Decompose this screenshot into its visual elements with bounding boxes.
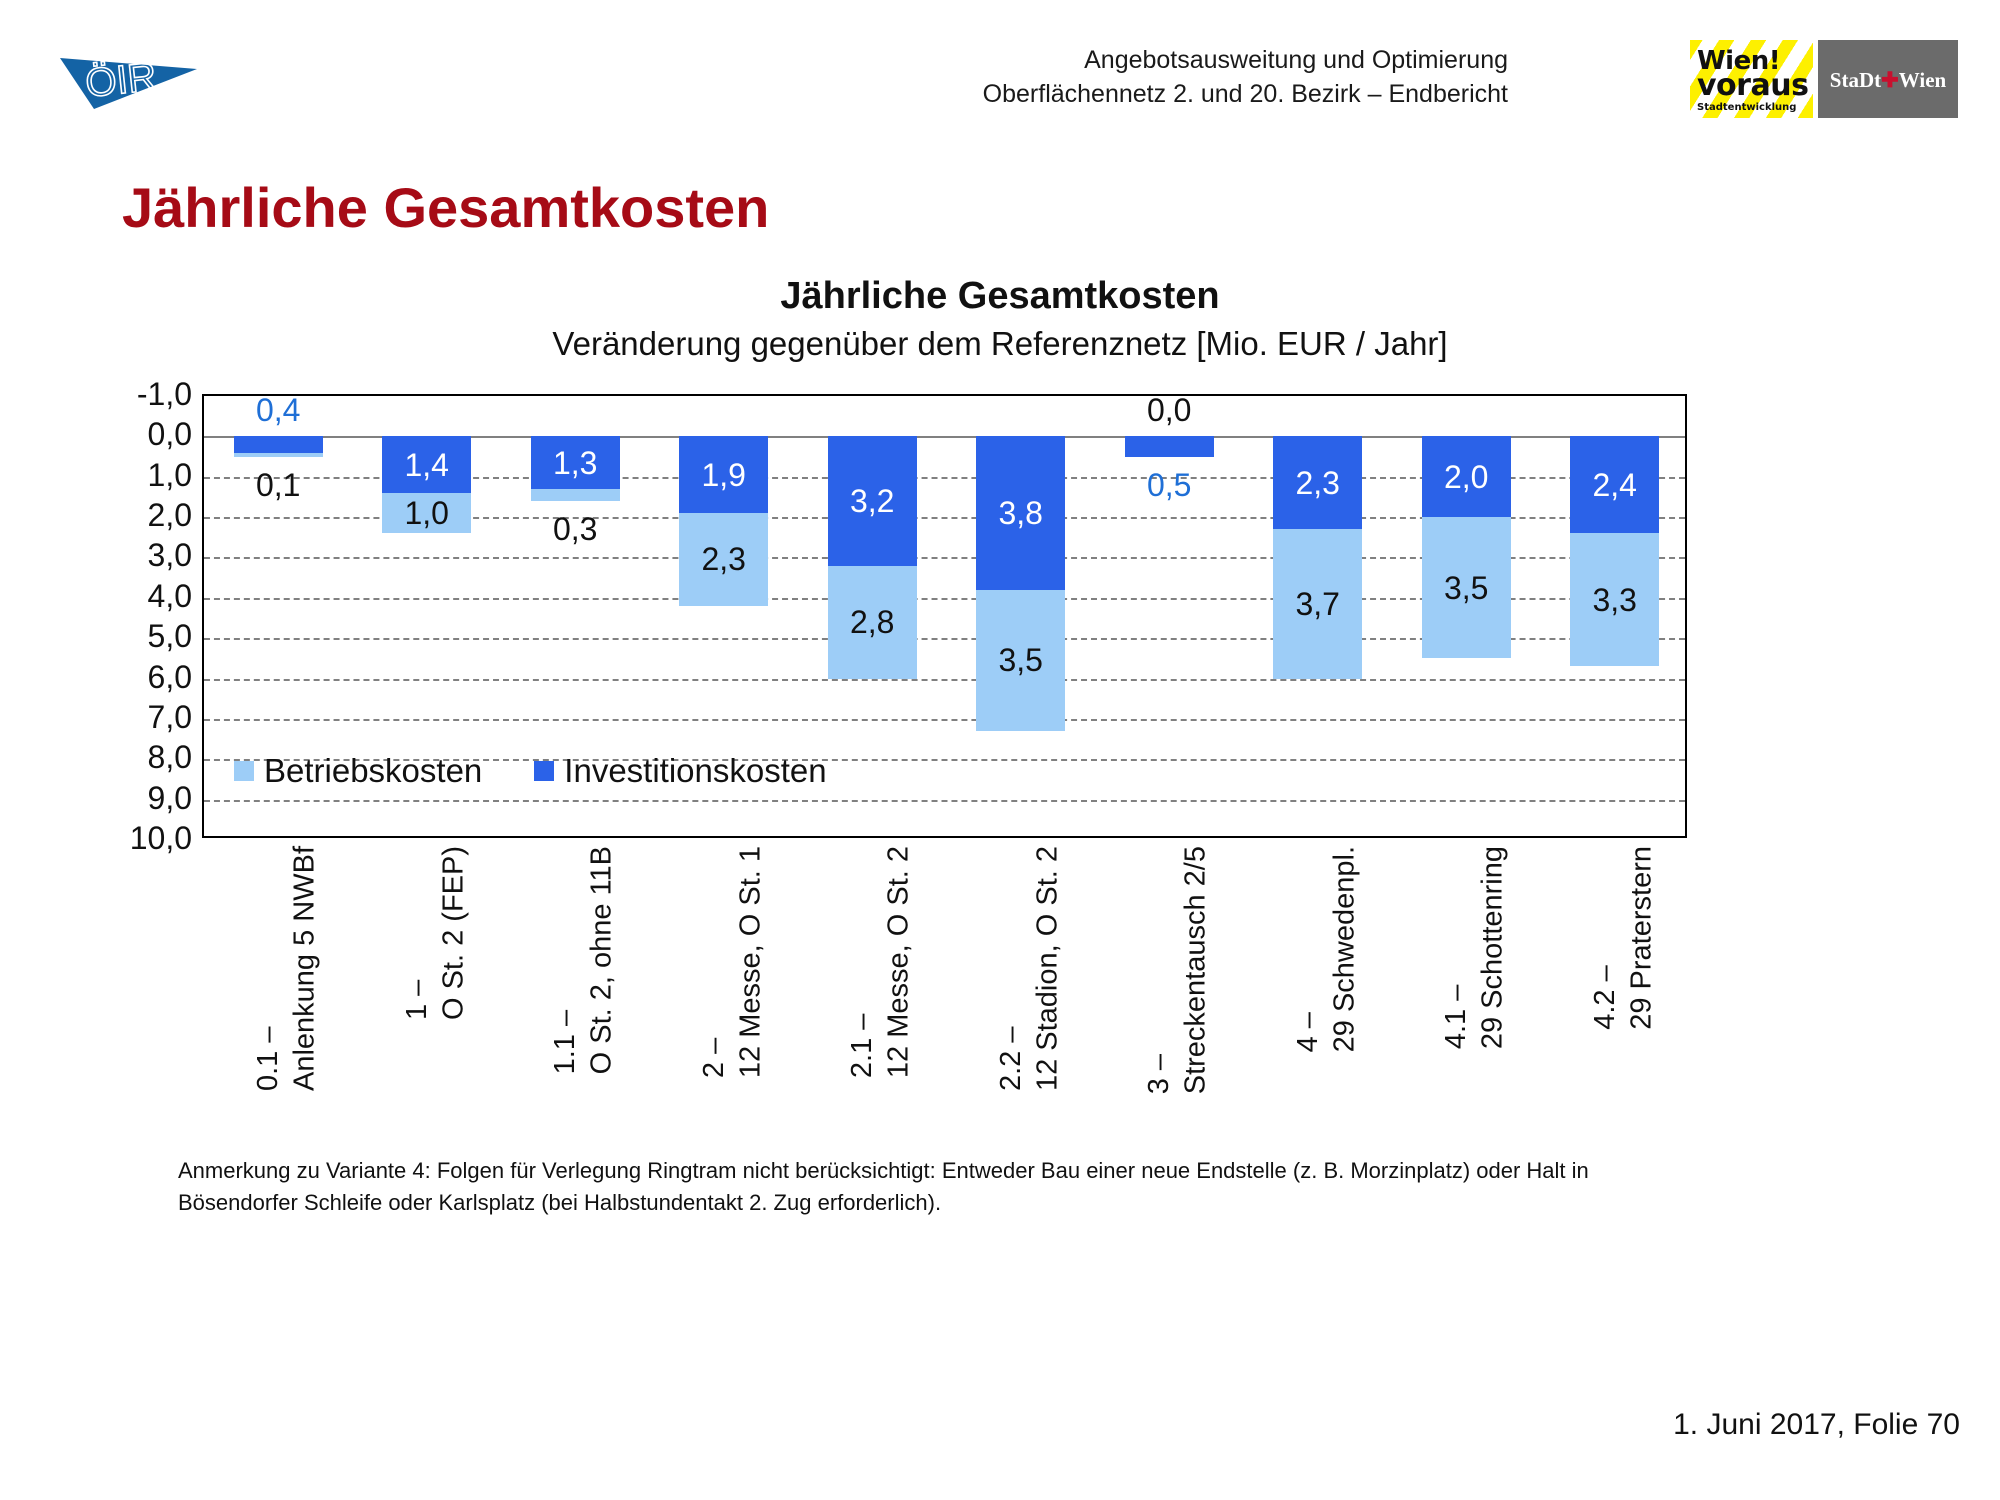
legend-swatch-icon [534,761,554,781]
stadt-wien-wordmark: StaDt✚Wien [1818,68,1958,93]
bar-segment-investitionskosten[interactable] [1125,436,1214,456]
stadt-wien-post: Wien [1899,68,1946,92]
bar-group[interactable]: 3,83,5 [976,396,1065,836]
stadt-wien-pre: StaDt [1830,68,1881,92]
legend-item[interactable]: Investitionskosten [534,752,826,790]
x-axis-category-label: 2.2 – 12 Stadion, O St. 2 [993,846,1066,1091]
x-axis-category-label: 1.1 – O St. 2, ohne 11B [547,846,620,1074]
legend-label: Betriebskosten [264,752,482,790]
bar-label-investitionskosten: 2,3 [1273,467,1362,499]
bar-label-betriebskosten: 2,3 [679,543,768,575]
legend-label: Investitionskosten [564,752,826,790]
bar-label-investitionskosten: 1,9 [679,459,768,491]
bar-label-betriebskosten: 2,8 [828,606,917,638]
y-axis-tick: 0,0 [80,418,192,450]
bar-label-investitionskosten: 3,2 [828,485,917,517]
bar-label-investitionskosten: 2,0 [1422,461,1511,493]
x-axis-category-label: 4.1 – 29 Schottenring [1438,846,1511,1049]
bar-label-betriebskosten: 3,5 [1422,572,1511,604]
bar-label-betriebskosten: 1,0 [382,497,471,529]
bar-segment-betriebskosten[interactable] [531,489,620,501]
footnote: Anmerkung zu Variante 4: Folgen für Verl… [178,1155,1708,1219]
slide-header: ÖIR Angebotsausweitung und Optimierung O… [0,0,2000,140]
bar-segment-investitionskosten[interactable] [234,436,323,452]
y-axis-tick: 2,0 [80,499,192,531]
cross-icon: ✚ [1881,68,1899,92]
legend-swatch-icon [234,761,254,781]
chart-legend: BetriebskostenInvestitionskosten [234,752,879,790]
y-axis-tick: 7,0 [80,701,192,733]
x-axis-category-label: 4.2 – 29 Praterstern [1587,846,1660,1030]
bar-group[interactable]: 2,33,7 [1273,396,1362,836]
bar-group[interactable]: 0,50,0 [1125,396,1214,836]
header-line-2: Oberflächennetz 2. und 20. Bezirk – Endb… [983,78,1508,112]
stadt-wien-logo: StaDt✚Wien [1818,40,1958,118]
svg-text:ÖIR: ÖIR [83,55,158,106]
wien-voraus-logo: Wien! voraus Stadtentwicklung [1690,40,1813,118]
bar-label-investitionskosten: 0,5 [1125,469,1214,501]
y-axis-tick: 3,0 [80,539,192,571]
header-subtitle: Angebotsausweitung und Optimierung Oberf… [983,44,1508,112]
x-axis-category-label: 2 – 12 Messe, O St. 1 [696,846,769,1078]
y-axis-tick: 1,0 [80,459,192,491]
x-axis: 0.1 – Anlenkung 5 NWBf1 – O St. 2 (FEP)1… [202,846,1687,1136]
chart-title: Jährliche Gesamtkosten [0,275,2000,318]
x-axis-category-label: 0.1 – Anlenkung 5 NWBf [250,846,323,1091]
wien-voraus-line-2: voraus [1697,68,1808,103]
bar-label-investitionskosten: 2,4 [1570,469,1659,501]
y-axis: -1,00,01,02,03,04,05,06,07,08,09,010,0 [80,394,192,838]
bar-label-betriebskosten: 3,7 [1273,588,1362,620]
y-axis-tick: 9,0 [80,782,192,814]
slide-footer: 1. Juni 2017, Folie 70 [1673,1408,1960,1442]
bar-label-betriebskosten: 0,0 [1125,394,1214,426]
header-line-1: Angebotsausweitung und Optimierung [983,44,1508,78]
chart-subtitle: Veränderung gegenüber dem Referenznetz [… [0,325,2000,363]
bar-label-betriebskosten: 0,1 [234,469,323,501]
y-axis-tick: 8,0 [80,741,192,773]
wien-voraus-line-3: Stadtentwicklung [1697,102,1796,113]
legend-item[interactable]: Betriebskosten [234,752,482,790]
bar-label-investitionskosten: 3,8 [976,497,1065,529]
bar-group[interactable]: 2,43,3 [1570,396,1659,836]
bar-label-investitionskosten: 0,4 [234,394,323,426]
x-axis-category-label: 4 – 29 Schwedenpl. [1290,846,1363,1052]
chart-plot-area: 0,40,11,41,01,30,31,92,33,22,83,83,50,50… [202,394,1687,838]
x-axis-category-label: 2.1 – 12 Messe, O St. 2 [844,846,917,1078]
oir-logo: ÖIR [42,33,212,113]
bar-label-betriebskosten: 3,3 [1570,584,1659,616]
y-axis-tick: 10,0 [80,822,192,854]
y-axis-tick: 6,0 [80,661,192,693]
bar-group[interactable]: 2,03,5 [1422,396,1511,836]
bar-label-betriebskosten: 0,3 [531,513,620,545]
x-axis-category-label: 1 – O St. 2 (FEP) [399,846,472,1020]
bar-label-betriebskosten: 3,5 [976,644,1065,676]
y-axis-tick: 4,0 [80,580,192,612]
y-axis-tick: 5,0 [80,620,192,652]
bar-label-investitionskosten: 1,3 [531,447,620,479]
page-title: Jährliche Gesamtkosten [122,175,769,240]
bar-label-investitionskosten: 1,4 [382,449,471,481]
x-axis-category-label: 3 – Streckentausch 2/5 [1141,846,1214,1094]
bar-segment-betriebskosten[interactable] [234,453,323,457]
y-axis-tick: -1,0 [80,378,192,410]
